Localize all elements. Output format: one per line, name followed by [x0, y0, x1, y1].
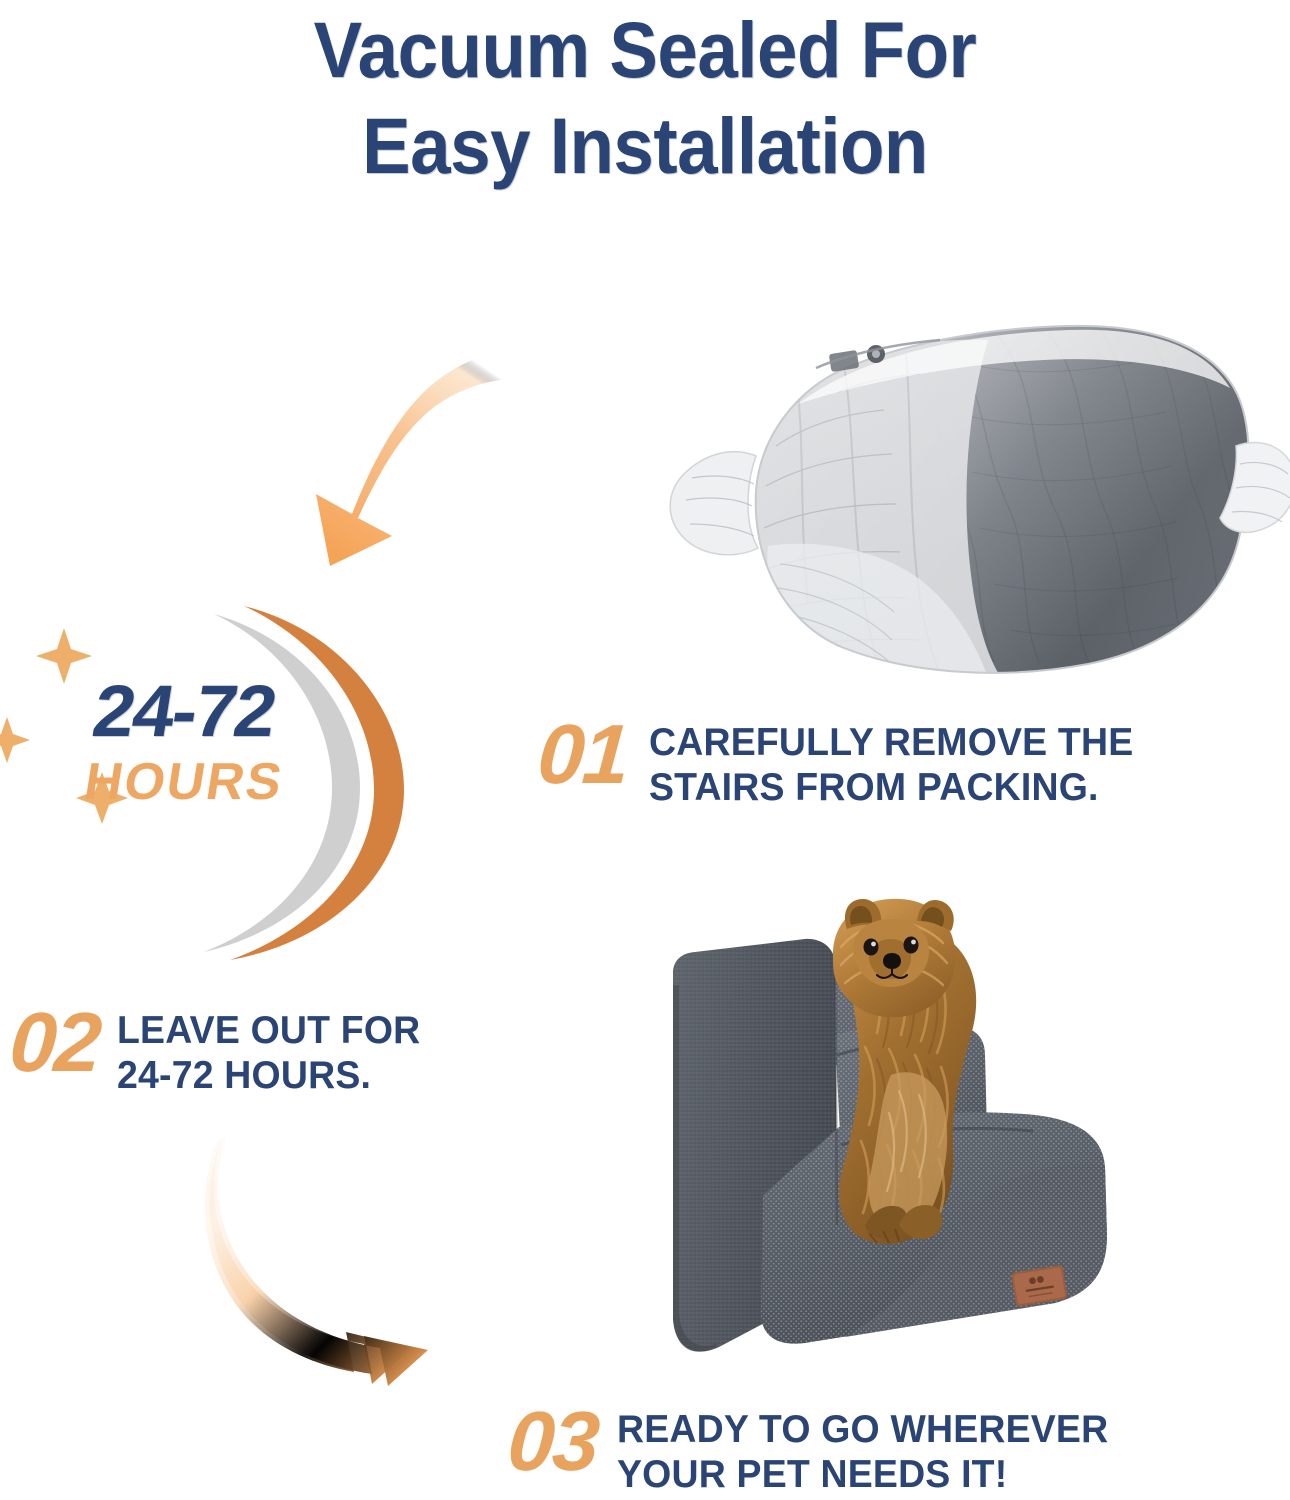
step-03-line-2: YOUR PET NEEDS IT! — [617, 1452, 1108, 1497]
step-03-text: READY TO GO WHEREVER YOUR PET NEEDS IT! — [617, 1407, 1108, 1497]
step-02-number: 02 — [7, 1001, 102, 1083]
badge-text-group: 24-72 HOURS — [34, 675, 334, 808]
step-02-line-1: LEAVE OUT FOR — [117, 1008, 420, 1053]
step-01-line-2: STAIRS FROM PACKING. — [649, 765, 1133, 810]
step-01-line-1: CAREFULLY REMOVE THE — [649, 720, 1133, 765]
step-03-number: 03 — [505, 1400, 600, 1482]
step-02-text: LEAVE OUT FOR 24-72 HOURS. — [117, 1008, 420, 1098]
vacuum-sealed-package-photo — [648, 296, 1290, 696]
page-title-line-1: Vacuum Sealed For — [52, 2, 1239, 98]
step-02: 02 LEAVE OUT FOR 24-72 HOURS. — [10, 1001, 434, 1098]
pet-stairs-with-dog-photo — [655, 895, 1290, 1385]
badge-duration-unit: HOURS — [30, 756, 338, 808]
badge-duration-value: 24-72 — [25, 675, 343, 748]
page-title: Vacuum Sealed For Easy Installation — [0, 2, 1290, 194]
curved-arrow-down-left-icon — [296, 318, 606, 578]
curved-arrow-down-right-icon — [176, 1136, 516, 1391]
step-01-text: CAREFULLY REMOVE THE STAIRS FROM PACKING… — [649, 720, 1133, 810]
duration-badge: 24-72 HOURS — [0, 600, 462, 970]
step-01: 01 CAREFULLY REMOVE THE STAIRS FROM PACK… — [538, 713, 1154, 810]
step-03: 03 READY TO GO WHEREVER YOUR PET NEEDS I… — [508, 1400, 1129, 1497]
step-03-line-1: READY TO GO WHEREVER — [617, 1407, 1108, 1452]
infographic-page: Vacuum Sealed For Easy Installation — [0, 0, 1290, 1500]
step-02-line-2: 24-72 HOURS. — [117, 1053, 420, 1098]
page-title-line-2: Easy Installation — [52, 98, 1239, 194]
step-01-number: 01 — [535, 713, 630, 795]
